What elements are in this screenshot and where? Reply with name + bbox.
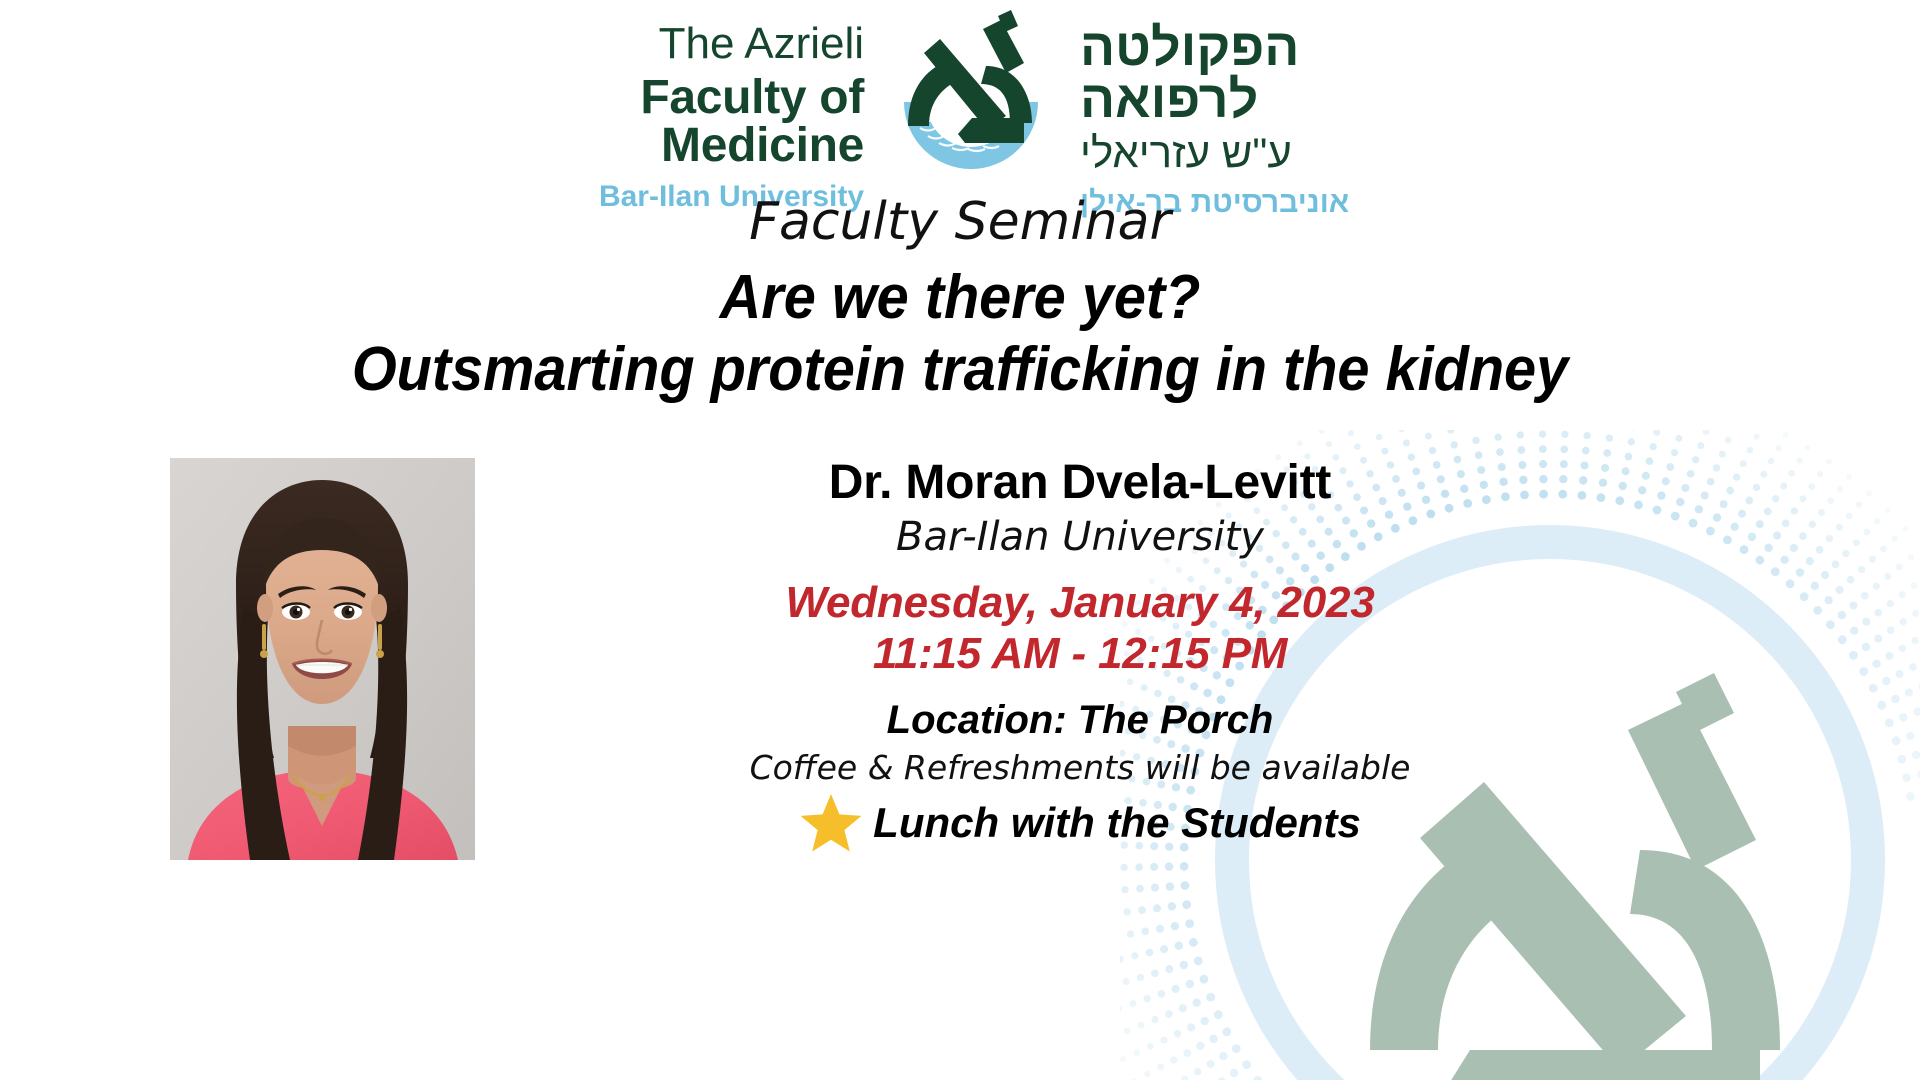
microscope-logo-icon [882,6,1060,176]
lunch-text: Lunch with the Students [873,800,1361,846]
header-line-faculty-of-medicine: Faculty of Medicine [480,74,864,170]
microscope-glyph [908,10,1032,143]
faculty-branding-header: The Azrieli Faculty of Medicine Bar-Ilan… [0,6,1920,181]
seminar-kicker: Faculty Seminar [0,192,1920,252]
event-details: Dr. Moran Dvela-Levitt Bar-Ilan Universi… [520,456,1640,855]
talk-title-line-2: Outsmarting protein trafficking in the k… [67,337,1853,403]
event-location: Location: The Porch [520,698,1640,743]
header-line-the-azrieli: The Azrieli [480,22,864,66]
lunch-announcement: Lunch with the Students [520,791,1640,855]
header-hebrew-text: הפקולטה לרפואה ע"ש עזריאלי אוניברסיטת בר… [1060,6,1440,218]
star-icon [799,791,863,855]
speaker-affiliation: Bar-Ilan University [520,514,1640,560]
seminar-poster: The Azrieli Faculty of Medicine Bar-Ilan… [0,0,1920,1080]
faculty-logo [882,6,1060,176]
talk-title: Are we there yet? Outsmarting protein tr… [0,265,1920,404]
event-time: 11:15 AM - 12:15 PM [520,629,1640,678]
header-hebrew-azrieli: ע"ש עזריאלי [1080,132,1440,174]
event-refreshments-note: Coffee & Refreshments will be available [520,749,1640,787]
speaker-portrait-illustration [170,458,475,860]
speaker-name: Dr. Moran Dvela-Levitt [520,456,1640,510]
event-date: Wednesday, January 4, 2023 [520,578,1640,627]
header-english-text: The Azrieli Faculty of Medicine Bar-Ilan… [480,6,882,212]
talk-title-line-1: Are we there yet? [67,265,1853,331]
header-hebrew-faculty-of-medicine: הפקולטה לרפואה [1080,22,1440,126]
speaker-photo [170,458,475,860]
